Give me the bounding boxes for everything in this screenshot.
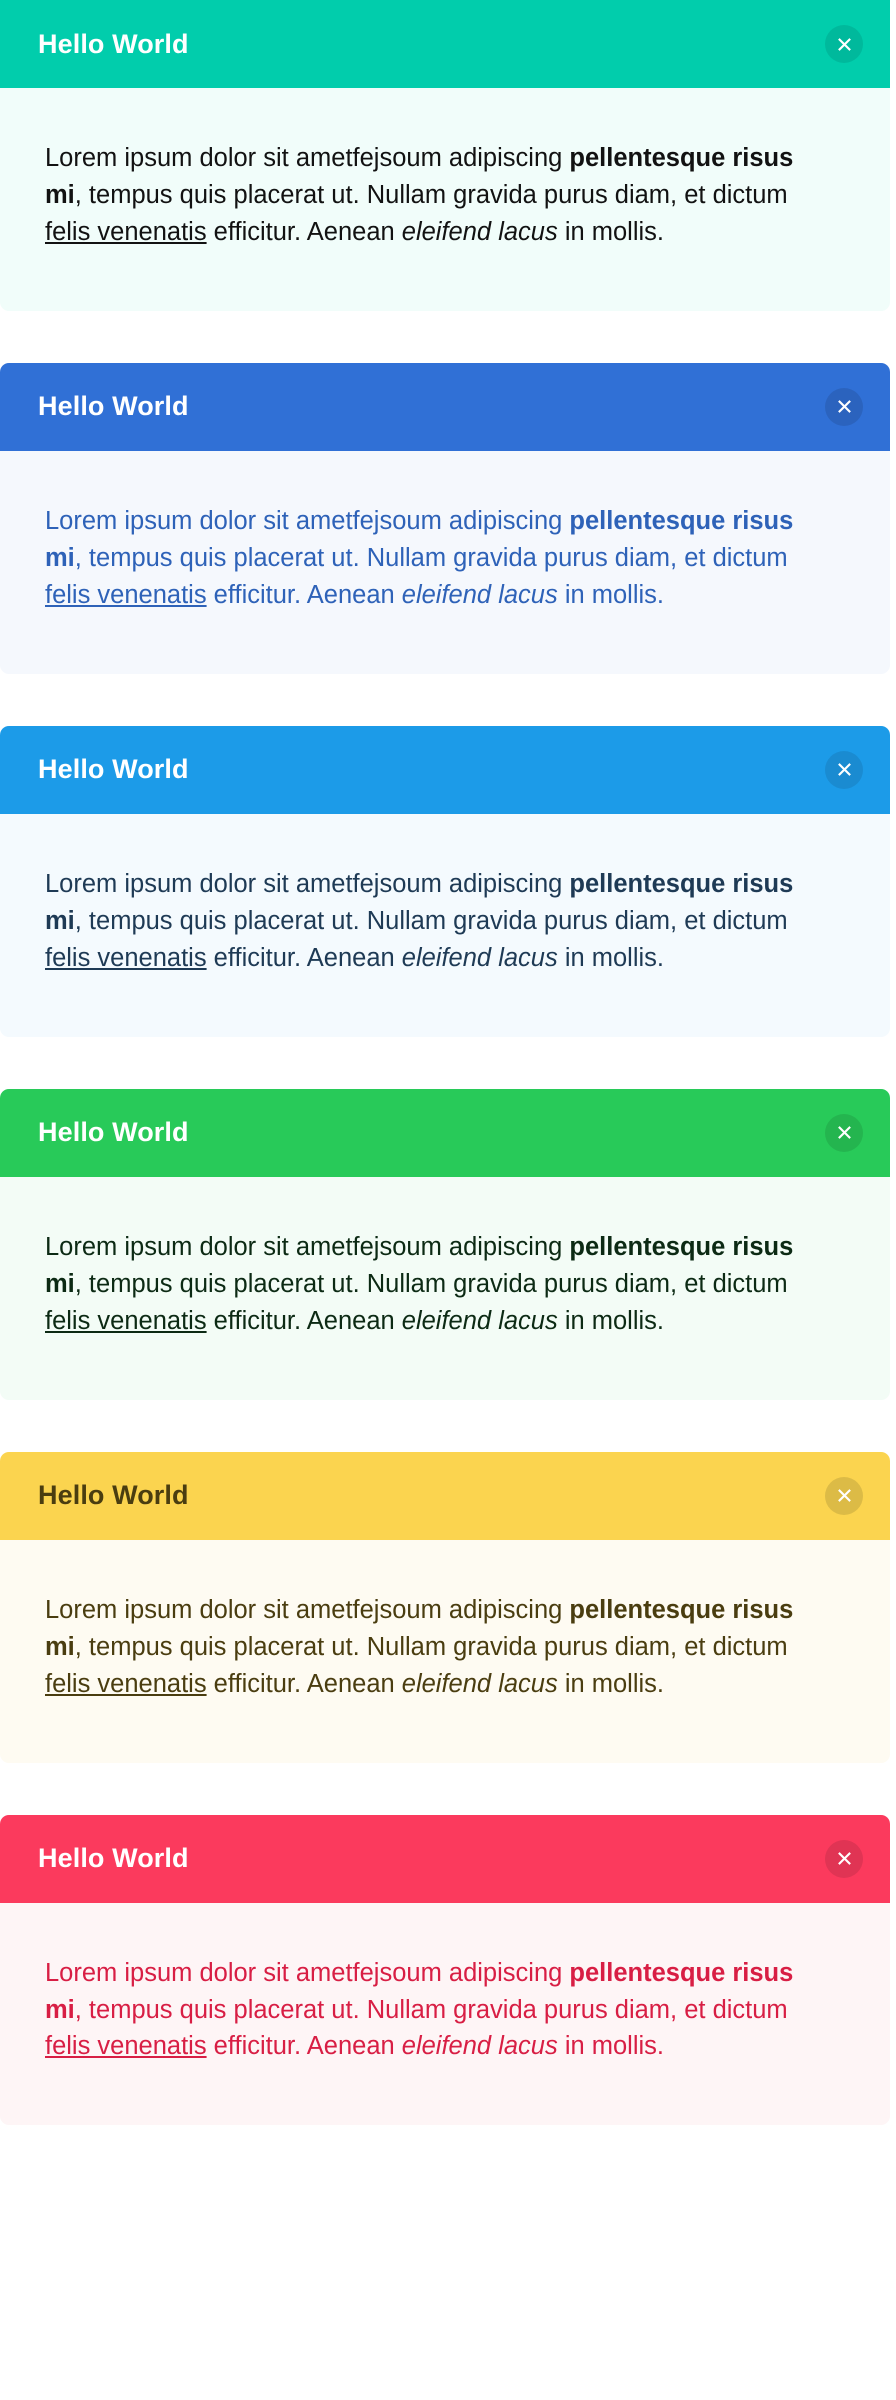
card-header: Hello World xyxy=(0,726,890,814)
card-text-emphasis: eleifend lacus xyxy=(402,1307,558,1335)
card-text-segment: efficitur. Aenean xyxy=(207,1307,402,1335)
card-header: Hello World xyxy=(0,0,890,88)
alert-card-yellow: Hello WorldLorem ipsum dolor sit ametfej… xyxy=(0,1452,890,1763)
card-text-segment: in mollis. xyxy=(558,1307,664,1335)
card-title: Hello World xyxy=(38,1482,189,1509)
card-body: Lorem ipsum dolor sit ametfejsoum adipis… xyxy=(0,1540,890,1763)
card-text-segment: , tempus quis placerat ut. Nullam gravid… xyxy=(75,907,788,935)
close-icon[interactable] xyxy=(825,1114,863,1152)
card-text: Lorem ipsum dolor sit ametfejsoum adipis… xyxy=(45,1229,835,1340)
card-text-emphasis: eleifend lacus xyxy=(402,218,558,246)
card-text-link[interactable]: felis venenatis xyxy=(45,2032,207,2060)
card-text-link[interactable]: felis venenatis xyxy=(45,944,207,972)
card-text-link[interactable]: felis venenatis xyxy=(45,218,207,246)
card-text-emphasis: eleifend lacus xyxy=(402,944,558,972)
card-text-segment: efficitur. Aenean xyxy=(207,2032,402,2060)
alert-card-teal: Hello WorldLorem ipsum dolor sit ametfej… xyxy=(0,0,890,311)
card-body: Lorem ipsum dolor sit ametfejsoum adipis… xyxy=(0,451,890,674)
card-text-emphasis: eleifend lacus xyxy=(402,2032,558,2060)
card-text-segment: in mollis. xyxy=(558,1670,664,1698)
card-text-segment: efficitur. Aenean xyxy=(207,1670,402,1698)
card-title: Hello World xyxy=(38,756,189,783)
card-text: Lorem ipsum dolor sit ametfejsoum adipis… xyxy=(45,866,835,977)
card-text: Lorem ipsum dolor sit ametfejsoum adipis… xyxy=(45,1955,835,2066)
card-title: Hello World xyxy=(38,1845,189,1872)
card-text: Lorem ipsum dolor sit ametfejsoum adipis… xyxy=(45,140,835,251)
card-title: Hello World xyxy=(38,1119,189,1146)
card-body: Lorem ipsum dolor sit ametfejsoum adipis… xyxy=(0,814,890,1037)
card-text-link[interactable]: felis venenatis xyxy=(45,1307,207,1335)
card-text-segment: Lorem ipsum dolor sit ametfejsoum adipis… xyxy=(45,1959,569,1987)
card-text-emphasis: eleifend lacus xyxy=(402,581,558,609)
alert-card-blue: Hello WorldLorem ipsum dolor sit ametfej… xyxy=(0,363,890,674)
close-icon[interactable] xyxy=(825,1840,863,1878)
card-body: Lorem ipsum dolor sit ametfejsoum adipis… xyxy=(0,1177,890,1400)
card-text-link[interactable]: felis venenatis xyxy=(45,1670,207,1698)
card-text-segment: in mollis. xyxy=(558,218,664,246)
card-title: Hello World xyxy=(38,31,189,58)
card-text-segment: efficitur. Aenean xyxy=(207,581,402,609)
card-text-segment: Lorem ipsum dolor sit ametfejsoum adipis… xyxy=(45,1596,569,1624)
card-text-segment: in mollis. xyxy=(558,581,664,609)
alert-card-list: Hello WorldLorem ipsum dolor sit ametfej… xyxy=(0,0,896,2125)
alert-card-light-blue: Hello WorldLorem ipsum dolor sit ametfej… xyxy=(0,726,890,1037)
close-icon[interactable] xyxy=(825,1477,863,1515)
card-text-segment: , tempus quis placerat ut. Nullam gravid… xyxy=(75,544,788,572)
alert-card-green: Hello WorldLorem ipsum dolor sit ametfej… xyxy=(0,1089,890,1400)
close-icon[interactable] xyxy=(825,25,863,63)
card-text-segment: Lorem ipsum dolor sit ametfejsoum adipis… xyxy=(45,870,569,898)
card-text-segment: Lorem ipsum dolor sit ametfejsoum adipis… xyxy=(45,1233,569,1261)
card-header: Hello World xyxy=(0,1089,890,1177)
card-text-segment: Lorem ipsum dolor sit ametfejsoum adipis… xyxy=(45,144,569,172)
card-header: Hello World xyxy=(0,1452,890,1540)
card-title: Hello World xyxy=(38,393,189,420)
card-text-segment: , tempus quis placerat ut. Nullam gravid… xyxy=(75,1270,788,1298)
card-header: Hello World xyxy=(0,1815,890,1903)
card-text-emphasis: eleifend lacus xyxy=(402,1670,558,1698)
card-text-segment: , tempus quis placerat ut. Nullam gravid… xyxy=(75,1996,788,2024)
card-text-segment: efficitur. Aenean xyxy=(207,944,402,972)
card-text-link[interactable]: felis venenatis xyxy=(45,581,207,609)
card-body: Lorem ipsum dolor sit ametfejsoum adipis… xyxy=(0,1903,890,2126)
card-body: Lorem ipsum dolor sit ametfejsoum adipis… xyxy=(0,88,890,311)
card-text: Lorem ipsum dolor sit ametfejsoum adipis… xyxy=(45,1592,835,1703)
close-icon[interactable] xyxy=(825,388,863,426)
card-text-segment: , tempus quis placerat ut. Nullam gravid… xyxy=(75,181,788,209)
card-text-segment: in mollis. xyxy=(558,944,664,972)
card-header: Hello World xyxy=(0,363,890,451)
card-text-segment: in mollis. xyxy=(558,2032,664,2060)
close-icon[interactable] xyxy=(825,751,863,789)
card-text-segment: Lorem ipsum dolor sit ametfejsoum adipis… xyxy=(45,507,569,535)
alert-card-red: Hello WorldLorem ipsum dolor sit ametfej… xyxy=(0,1815,890,2126)
card-text-segment: efficitur. Aenean xyxy=(207,218,402,246)
card-text-segment: , tempus quis placerat ut. Nullam gravid… xyxy=(75,1633,788,1661)
card-text: Lorem ipsum dolor sit ametfejsoum adipis… xyxy=(45,503,835,614)
